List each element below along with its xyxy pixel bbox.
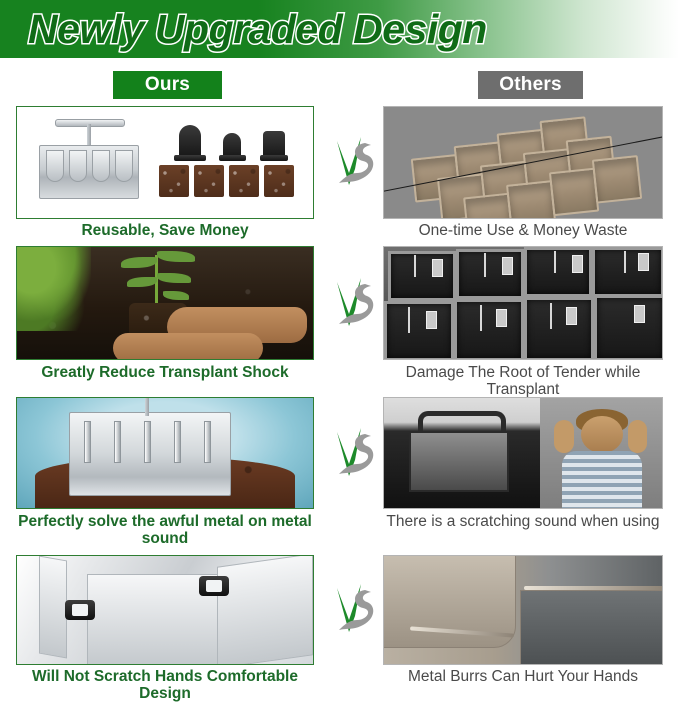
comparison-image-ours-row4: [16, 555, 314, 665]
tool-stem-icon: [145, 398, 149, 416]
steel-side-wall: [217, 555, 313, 665]
comparison-image-others-row3: [383, 397, 663, 509]
arm: [628, 420, 648, 453]
plant-label-tag: [426, 311, 437, 329]
foliage: [17, 247, 91, 331]
vs-icon: [331, 580, 379, 638]
dark-tool-photo: [384, 398, 540, 508]
child-photo: [540, 398, 662, 508]
child-torso: [562, 451, 643, 508]
dibber-nozzle-square-base: [260, 155, 288, 161]
caption-others-row3: There is a scratching sound when using: [383, 513, 663, 530]
column-header-ours: Ours: [113, 71, 222, 99]
plant-label-tag: [432, 259, 443, 277]
caption-ours-row1: Reusable, Save Money: [16, 222, 314, 239]
caption-others-row1: One-time Use & Money Waste: [383, 222, 663, 239]
dibber-nozzle-large-base: [174, 155, 206, 161]
soil-blocker-body: [39, 145, 139, 199]
protective-clip: [199, 576, 229, 596]
protective-clip: [65, 600, 95, 620]
soil-block: [264, 165, 294, 197]
vs-icon: [331, 133, 379, 191]
comparison-image-others-row2: [383, 246, 663, 360]
caption-others-row2: Damage The Root of Tender while Transpla…: [383, 364, 663, 398]
soil-block: [159, 165, 189, 197]
child-head: [581, 416, 623, 453]
plant-label-tag: [638, 253, 649, 271]
comparison-image-ours-row3: [16, 397, 314, 509]
arm: [554, 420, 574, 453]
steel-divider-wall: [39, 556, 67, 659]
caption-ours-row4: Will Not Scratch Hands Comfortable Desig…: [10, 668, 320, 702]
plant-label-tag: [572, 255, 583, 273]
vs-icon: [331, 274, 379, 332]
soil-block: [194, 165, 224, 197]
comparison-image-ours-row1: [16, 106, 314, 219]
soil-block: [229, 165, 259, 197]
page-title: Newly Upgraded Design: [28, 2, 487, 56]
plant-label-tag: [634, 305, 645, 323]
metal-blocker: [409, 431, 510, 492]
caption-ours-row3: Perfectly solve the awful metal on metal…: [16, 513, 314, 547]
soil-blocker-tool: [69, 412, 231, 496]
hand: [113, 333, 263, 360]
comparison-image-ours-row2: [16, 246, 314, 360]
dibber-nozzle-large: [179, 125, 201, 159]
caption-ours-row2: Greatly Reduce Transplant Shock: [16, 364, 314, 381]
caption-others-row4: Metal Burrs Can Hurt Your Hands: [383, 668, 663, 685]
plant-label-tag: [502, 257, 513, 275]
burr-sharp-edge: [524, 586, 663, 590]
comparison-image-others-row1: [383, 106, 663, 219]
dibber-nozzle-medium-base: [219, 155, 246, 161]
metal-plate: [520, 590, 663, 665]
column-header-others: Others: [478, 71, 583, 99]
plant-label-tag: [566, 307, 577, 325]
header-banner: Newly Upgraded Design: [0, 0, 679, 58]
vs-icon: [331, 424, 379, 482]
comparison-image-others-row4: [383, 555, 663, 665]
plant-label-tag: [496, 309, 507, 327]
